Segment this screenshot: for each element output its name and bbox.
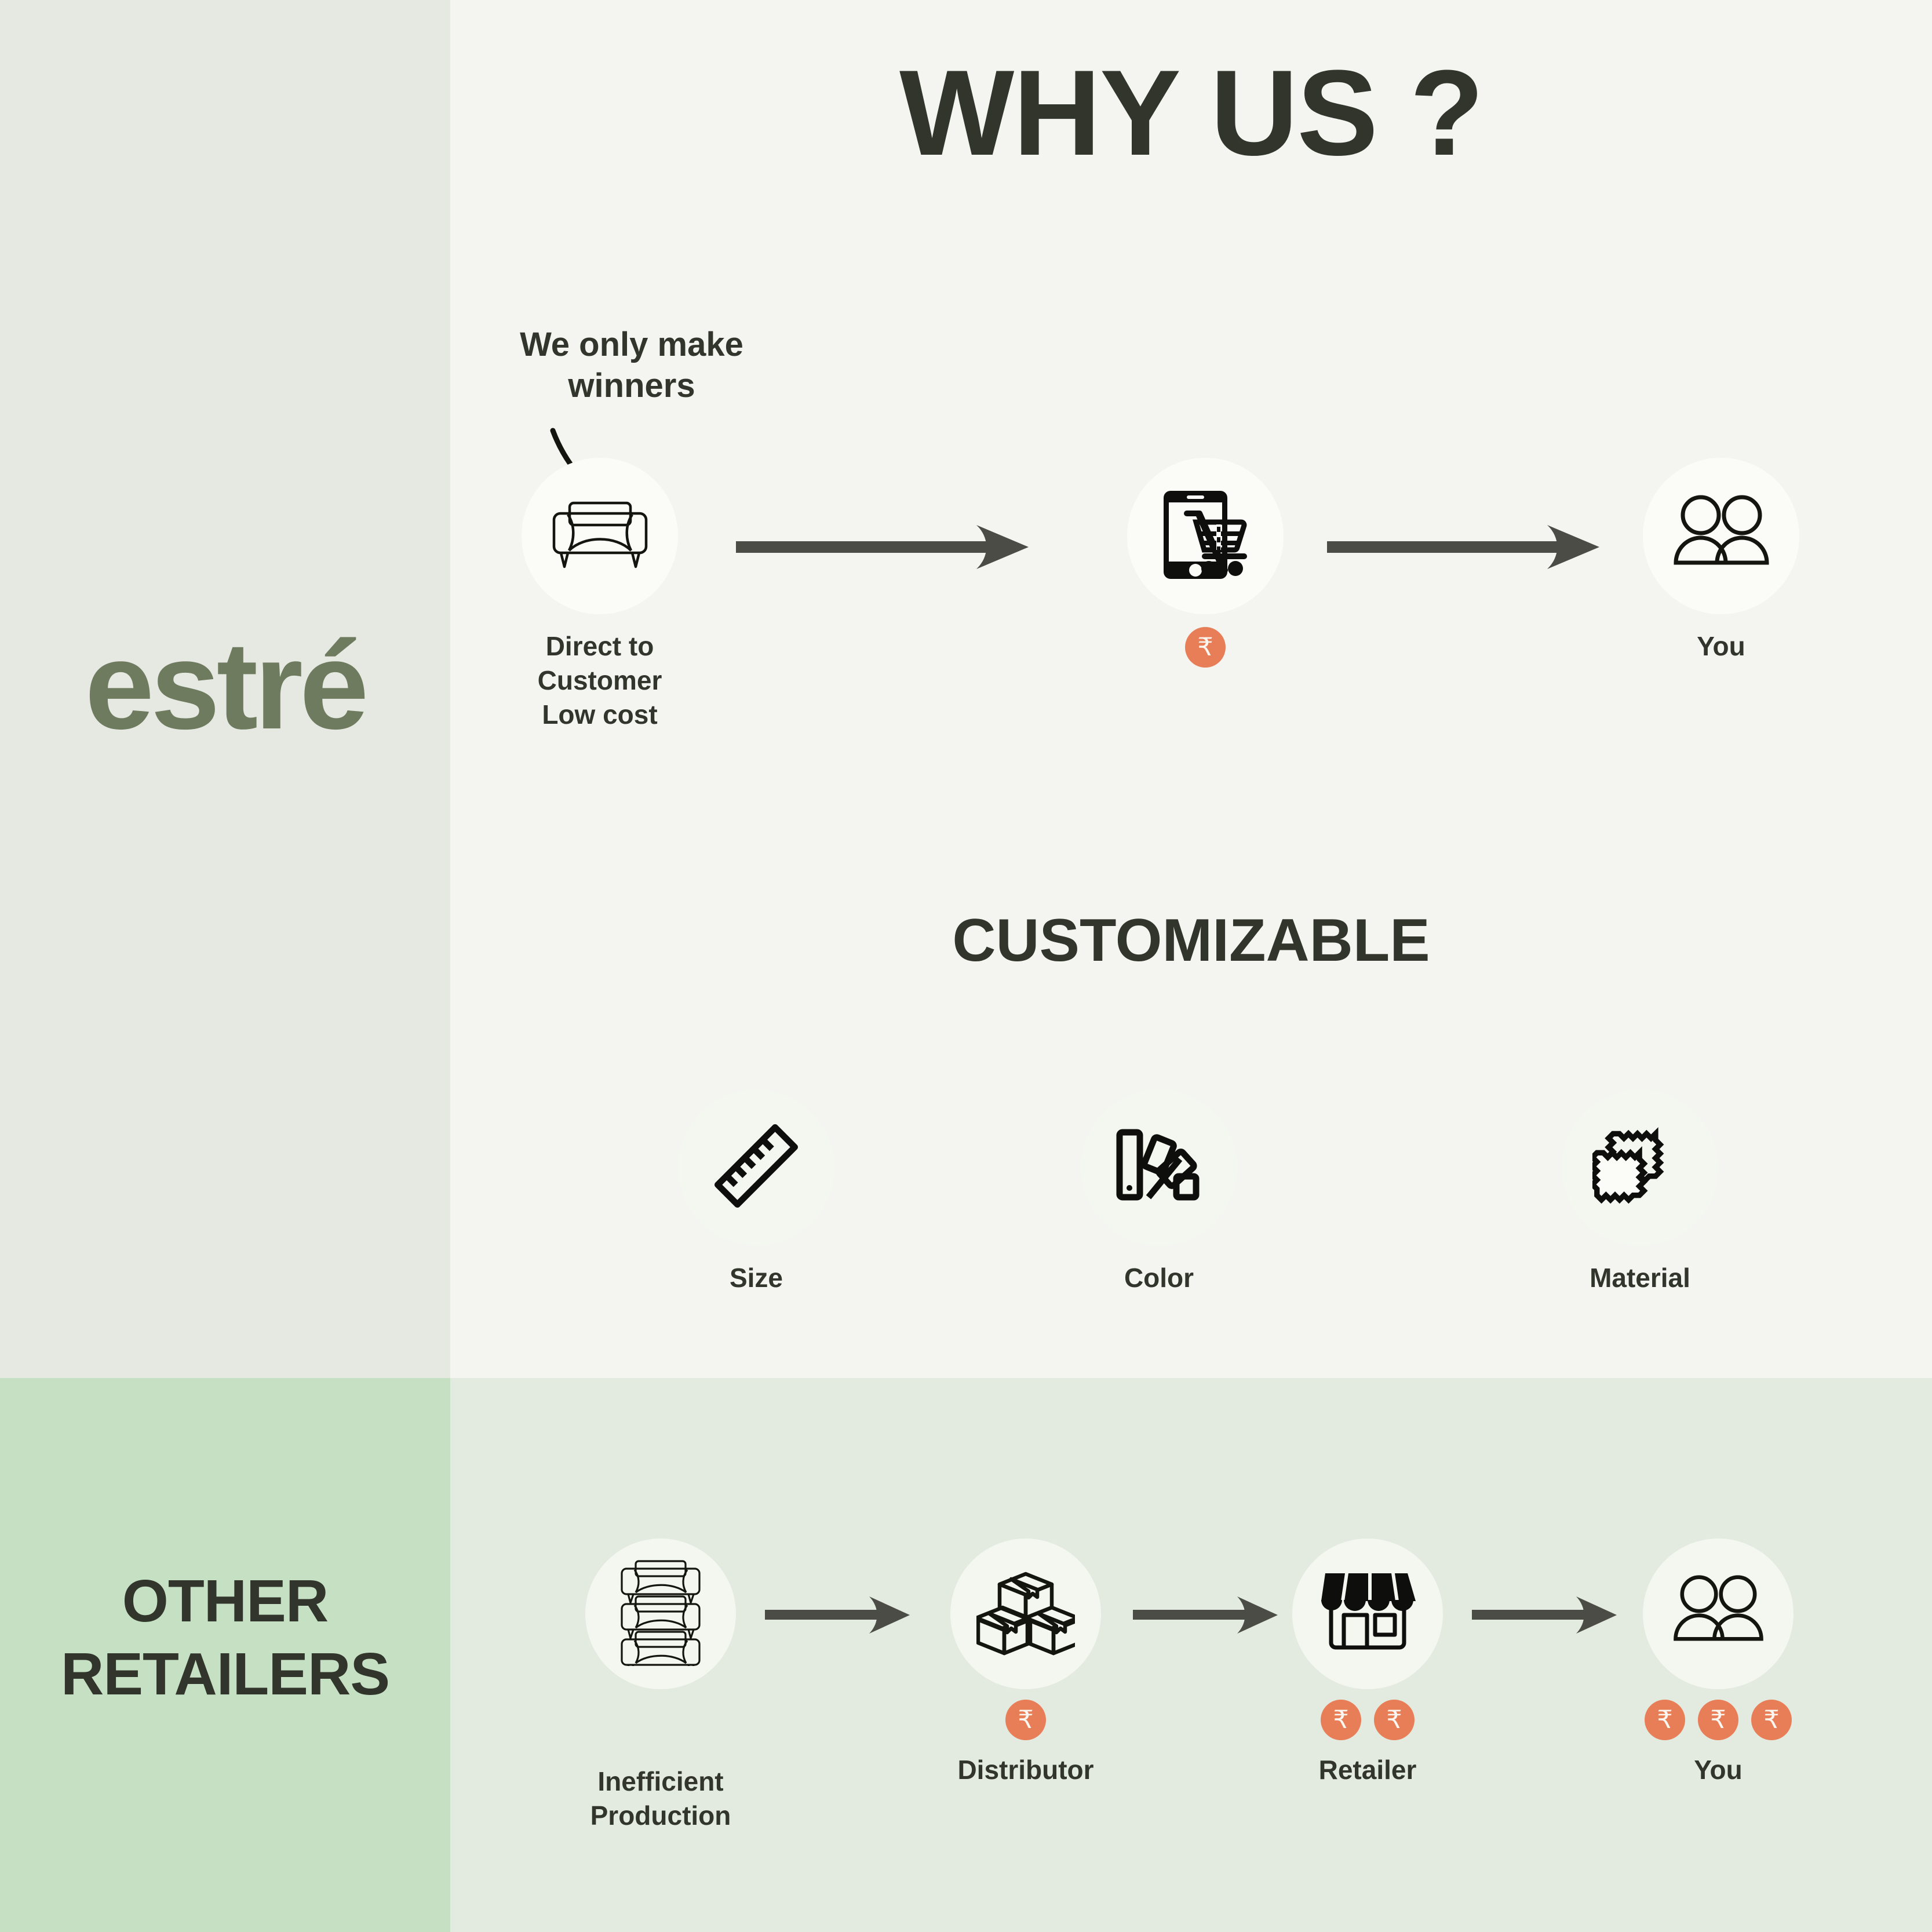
rupee-badge: ₹ — [1698, 1700, 1738, 1740]
retailer-node-label: You — [1625, 1753, 1811, 1787]
rupee-badge: ₹ — [1374, 1700, 1415, 1740]
rupee-badge: ₹ — [1321, 1700, 1361, 1740]
retailer-flow-node-distributor: ₹ Distributor — [933, 1539, 1118, 1787]
ruler-icon — [709, 1118, 804, 1217]
rupee-badge-group: ₹ — [933, 1700, 1118, 1740]
rupee-badge: ₹ — [1005, 1700, 1046, 1740]
flow-node-online-purchase: ₹ — [1110, 458, 1301, 680]
customizable-heading: CUSTOMIZABLE — [450, 906, 1932, 975]
stacked-sofas-icon — [617, 1559, 704, 1669]
right-arrow-icon — [736, 520, 1029, 577]
icon-circle — [1562, 1089, 1718, 1246]
fabric-swatch-icon — [1592, 1120, 1688, 1216]
right-arrow-icon — [1133, 1592, 1278, 1641]
right-arrow-icon — [1472, 1592, 1617, 1641]
retailer-flow-node-production: Inefficient Production — [568, 1539, 753, 1833]
rupee-badge-group: ₹ ₹ — [1275, 1700, 1460, 1740]
retailer-node-label: Retailer — [1275, 1753, 1460, 1787]
flow-node-you: You — [1625, 458, 1817, 664]
option-label: Color — [1063, 1261, 1255, 1295]
two-people-icon — [1668, 494, 1775, 578]
rupee-badge: ₹ — [1751, 1700, 1792, 1740]
retailer-node-label: Distributor — [933, 1753, 1118, 1787]
customizable-option-color: Color — [1063, 1089, 1255, 1295]
icon-circle — [1081, 1089, 1237, 1246]
other-retailers-heading: OTHER RETAILERS — [0, 1565, 450, 1710]
flow-node-label: You — [1625, 629, 1817, 664]
mobile-shopping-cart-icon — [1153, 483, 1257, 590]
flow-node-label: Direct to Customer Low cost — [504, 629, 695, 732]
right-arrow-icon — [1327, 520, 1599, 577]
retailer-node-label: Inefficient Production — [568, 1765, 753, 1833]
icon-circle — [1643, 1539, 1794, 1689]
rupee-badge: ₹ — [1645, 1700, 1685, 1740]
flow-node-direct-to-customer: Direct to Customer Low cost — [504, 458, 695, 732]
icon-circle — [678, 1089, 834, 1246]
storefront-icon — [1318, 1566, 1417, 1662]
option-label: Size — [661, 1261, 852, 1295]
icon-circle — [522, 458, 678, 614]
customizable-option-material: Material — [1544, 1089, 1736, 1295]
annotation-text: We only make winners — [458, 325, 805, 407]
right-arrow-icon — [765, 1592, 910, 1641]
two-people-icon — [1668, 1574, 1769, 1654]
brand-logo: estré — [0, 623, 450, 748]
icon-circle — [1292, 1539, 1443, 1689]
icon-circle — [1127, 458, 1284, 614]
retailer-flow-node-retailer: ₹ ₹ Retailer — [1275, 1539, 1460, 1787]
rupee-badge: ₹ — [1185, 627, 1226, 668]
color-swatch-icon — [1113, 1123, 1205, 1213]
rupee-badge-group: ₹ ₹ ₹ — [1625, 1700, 1811, 1740]
sofa-icon — [549, 497, 651, 575]
why-us-infographic: WHY US ? estré We only make winners — [0, 0, 1932, 1932]
stacked-boxes-icon — [976, 1569, 1075, 1659]
icon-circle — [950, 1539, 1101, 1689]
retailer-flow-node-you: ₹ ₹ ₹ You — [1625, 1539, 1811, 1787]
rupee-badge-group: ₹ — [1110, 627, 1301, 668]
customizable-option-size: Size — [661, 1089, 852, 1295]
page-title: WHY US ? — [450, 52, 1932, 174]
icon-circle — [585, 1539, 736, 1689]
icon-circle — [1643, 458, 1799, 614]
option-label: Material — [1544, 1261, 1736, 1295]
